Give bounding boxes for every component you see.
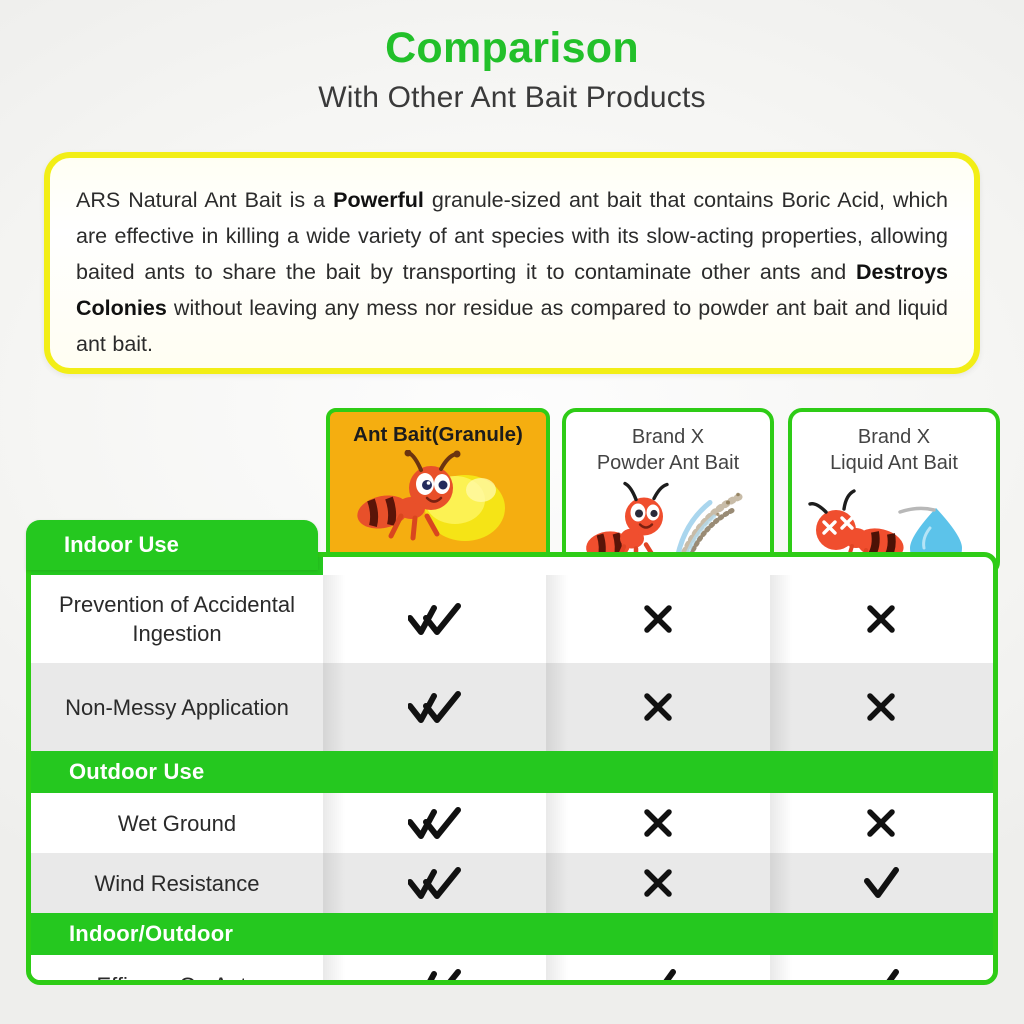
section-header-indoor-outdoor: Indoor/Outdoor (31, 913, 993, 955)
cell-wet-ground-brand-x-liquid (770, 793, 993, 853)
description-bold-1: Powerful (333, 188, 424, 212)
comparison-table-body: Prevention of Accidental Ingestion Non-M… (26, 552, 998, 985)
cell-efficacy-brand-x-powder (546, 955, 769, 985)
section-header-outdoor-use: Outdoor Use (31, 751, 993, 793)
table-row: Wind Resistance (31, 853, 993, 913)
row-label-efficacy-on-ants: Efficacy On Ants (31, 955, 323, 985)
column-title-brand-x-powder: Brand X Powder Ant Bait (566, 412, 770, 476)
description-box: ARS Natural Ant Bait is a Powerful granu… (44, 152, 980, 374)
description-part-1: ARS Natural Ant Bait is a (76, 188, 333, 212)
row-label-wet-ground: Wet Ground (31, 793, 323, 853)
table-row: Non-Messy Application (31, 663, 993, 751)
cell-non-messy-brand-x-powder (546, 663, 769, 751)
page-title: Comparison (0, 26, 1024, 71)
cell-wind-resistance-ant-bait-granule (323, 853, 546, 913)
cell-non-messy-ant-bait-granule (323, 663, 546, 751)
comparison-table: Indoor Use Prevention of Accidental Inge… (26, 520, 998, 985)
column-title-brand-x-liquid: Brand X Liquid Ant Bait (792, 412, 996, 476)
cell-wind-resistance-brand-x-liquid (770, 853, 993, 913)
cell-wet-ground-ant-bait-granule (323, 793, 546, 853)
page-header: Comparison With Other Ant Bait Products (0, 26, 1024, 115)
cell-prevention-brand-x-liquid (770, 575, 993, 663)
cell-efficacy-brand-x-liquid (770, 955, 993, 985)
cell-wind-resistance-brand-x-powder (546, 853, 769, 913)
table-row: Wet Ground (31, 793, 993, 853)
row-label-wind-resistance: Wind Resistance (31, 853, 323, 913)
cell-efficacy-ant-bait-granule (323, 955, 546, 985)
cell-prevention-ant-bait-granule (323, 575, 546, 663)
description-part-3: without leaving any mess nor residue as … (76, 296, 948, 356)
page-subtitle: With Other Ant Bait Products (0, 81, 1024, 115)
table-row: Efficacy On Ants (31, 955, 993, 985)
table-row: Prevention of Accidental Ingestion (31, 575, 993, 663)
cell-prevention-brand-x-powder (546, 575, 769, 663)
cell-non-messy-brand-x-liquid (770, 663, 993, 751)
column-title-ant-bait-granule: Ant Bait(Granule) (330, 412, 546, 448)
row-label-non-messy-application: Non-Messy Application (31, 663, 323, 751)
cell-wet-ground-brand-x-powder (546, 793, 769, 853)
description-text: ARS Natural Ant Bait is a Powerful granu… (76, 182, 948, 362)
row-label-prevention-of-accidental-ingestion: Prevention of Accidental Ingestion (31, 575, 323, 663)
section-header-indoor-use: Indoor Use (26, 520, 318, 570)
